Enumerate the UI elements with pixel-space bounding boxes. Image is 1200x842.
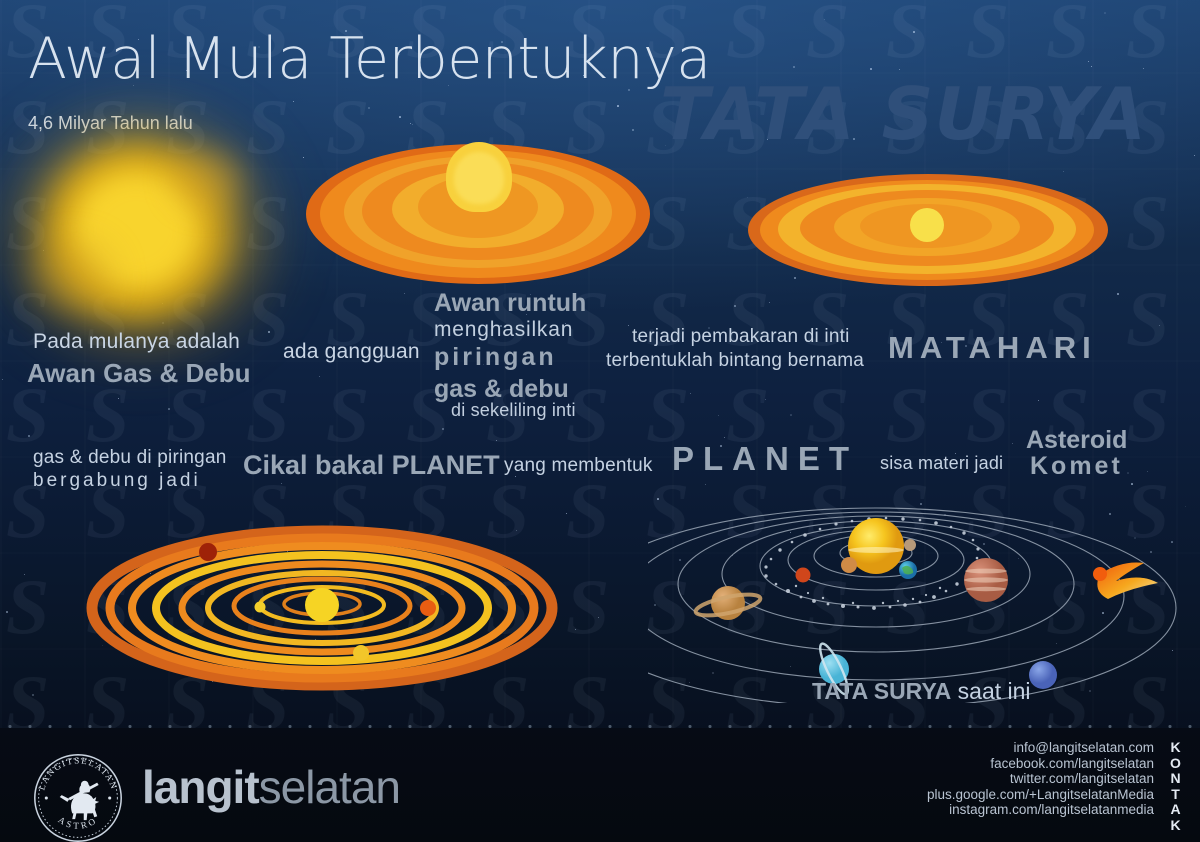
langitselatan-logo: LANGITSELATAN ASTRO <box>30 750 126 842</box>
planet-neptune <box>1029 661 1057 689</box>
logo-ring-top-text: LANGITSELATAN <box>36 755 119 791</box>
infographic-poster: SSSSSSSSSSSSSSSSSSSSSSSSSSSSSSSSSSSSSSSS… <box>0 0 1200 842</box>
caption-planet: PLANET <box>672 440 858 478</box>
contact-email[interactable]: info@langitselatan.com <box>927 740 1154 756</box>
protoplanet-1 <box>199 543 217 561</box>
comet <box>1093 562 1158 599</box>
caption-stage1-line2: Awan Gas & Debu <box>27 358 250 389</box>
planet-mercury <box>904 539 916 551</box>
contact-instagram[interactable]: instagram.com/langitselatanmedia <box>927 802 1154 818</box>
page-title: Awal Mula Terbentuknya <box>28 26 711 92</box>
brand-light: selatan <box>259 761 400 813</box>
logo-ring-bottom-text: ASTRO <box>56 815 99 831</box>
sagittarius-figure <box>60 781 99 820</box>
caption-stage2: ada gangguan <box>283 340 420 364</box>
caption-cikal-bakal-planet: Cikal bakal PLANET <box>243 450 500 481</box>
solar-system-label-light: saat ini <box>951 678 1030 704</box>
caption-stage6-line2: bergabung jadi <box>33 470 201 492</box>
kontak-letter: N <box>1164 771 1188 787</box>
kontak-letter: K <box>1164 818 1188 834</box>
protoplanet-3 <box>255 602 266 613</box>
protoplanet-4 <box>353 645 369 661</box>
solar-system-label: TATA SURYA saat ini <box>812 678 1031 705</box>
solar-system-diagram <box>648 498 1200 703</box>
planet-saturn <box>694 586 762 620</box>
caption-stage3-line1: Awan runtuh <box>434 289 586 318</box>
kontak-letter: A <box>1164 802 1188 818</box>
caption-stage3-line2: menghasilkan <box>434 318 573 342</box>
protoplanet-2 <box>420 600 436 616</box>
planet-venus <box>841 557 857 573</box>
caption-asteroid: Asteroid <box>1026 426 1127 455</box>
protostar-disk-illustration <box>306 136 650 288</box>
caption-stage4-line2: terbentuklah bintang bernama <box>606 350 864 372</box>
caption-stage4-line1: terjadi pembakaran di inti <box>632 326 849 348</box>
planet-mars <box>796 568 811 583</box>
caption-matahari: MATAHARI <box>888 330 1097 366</box>
caption-stage3-line5: di sekeliling inti <box>451 400 576 421</box>
caption-stage1-line1: Pada mulanya adalah <box>33 330 240 354</box>
contact-googleplus[interactable]: plus.google.com/+LangitselatanMedia <box>927 787 1154 803</box>
solar-system-label-bold: TATA SURYA <box>812 678 951 704</box>
caption-stage3-line3: piringan <box>434 343 557 372</box>
brand-bold: langit <box>142 761 259 813</box>
protostar-core <box>305 588 339 622</box>
kontak-vertical-label: KONTAK <box>1164 740 1188 833</box>
gas-cloud-illustration <box>22 128 262 343</box>
dotted-divider <box>0 725 1200 728</box>
contact-twitter[interactable]: twitter.com/langitselatan <box>927 771 1154 787</box>
caption-stage10: sisa materi jadi <box>880 453 1003 474</box>
caption-stage8: yang membentuk <box>504 455 653 477</box>
kontak-letter: O <box>1164 756 1188 772</box>
caption-stage6-line1: gas & debu di piringan <box>33 447 226 469</box>
contact-list: info@langitselatan.com facebook.com/lang… <box>927 740 1154 818</box>
brand-wordmark: langitselatan <box>142 760 400 814</box>
kontak-letter: K <box>1164 740 1188 756</box>
big-title-tata-surya: TATA SURYA <box>660 72 1147 156</box>
sun-disk-illustration <box>748 172 1108 290</box>
protoplanetary-disk-diagram <box>72 508 572 703</box>
kontak-letter: T <box>1164 787 1188 803</box>
contact-facebook[interactable]: facebook.com/langitselatan <box>927 756 1154 772</box>
caption-komet: Komet <box>1030 452 1123 481</box>
